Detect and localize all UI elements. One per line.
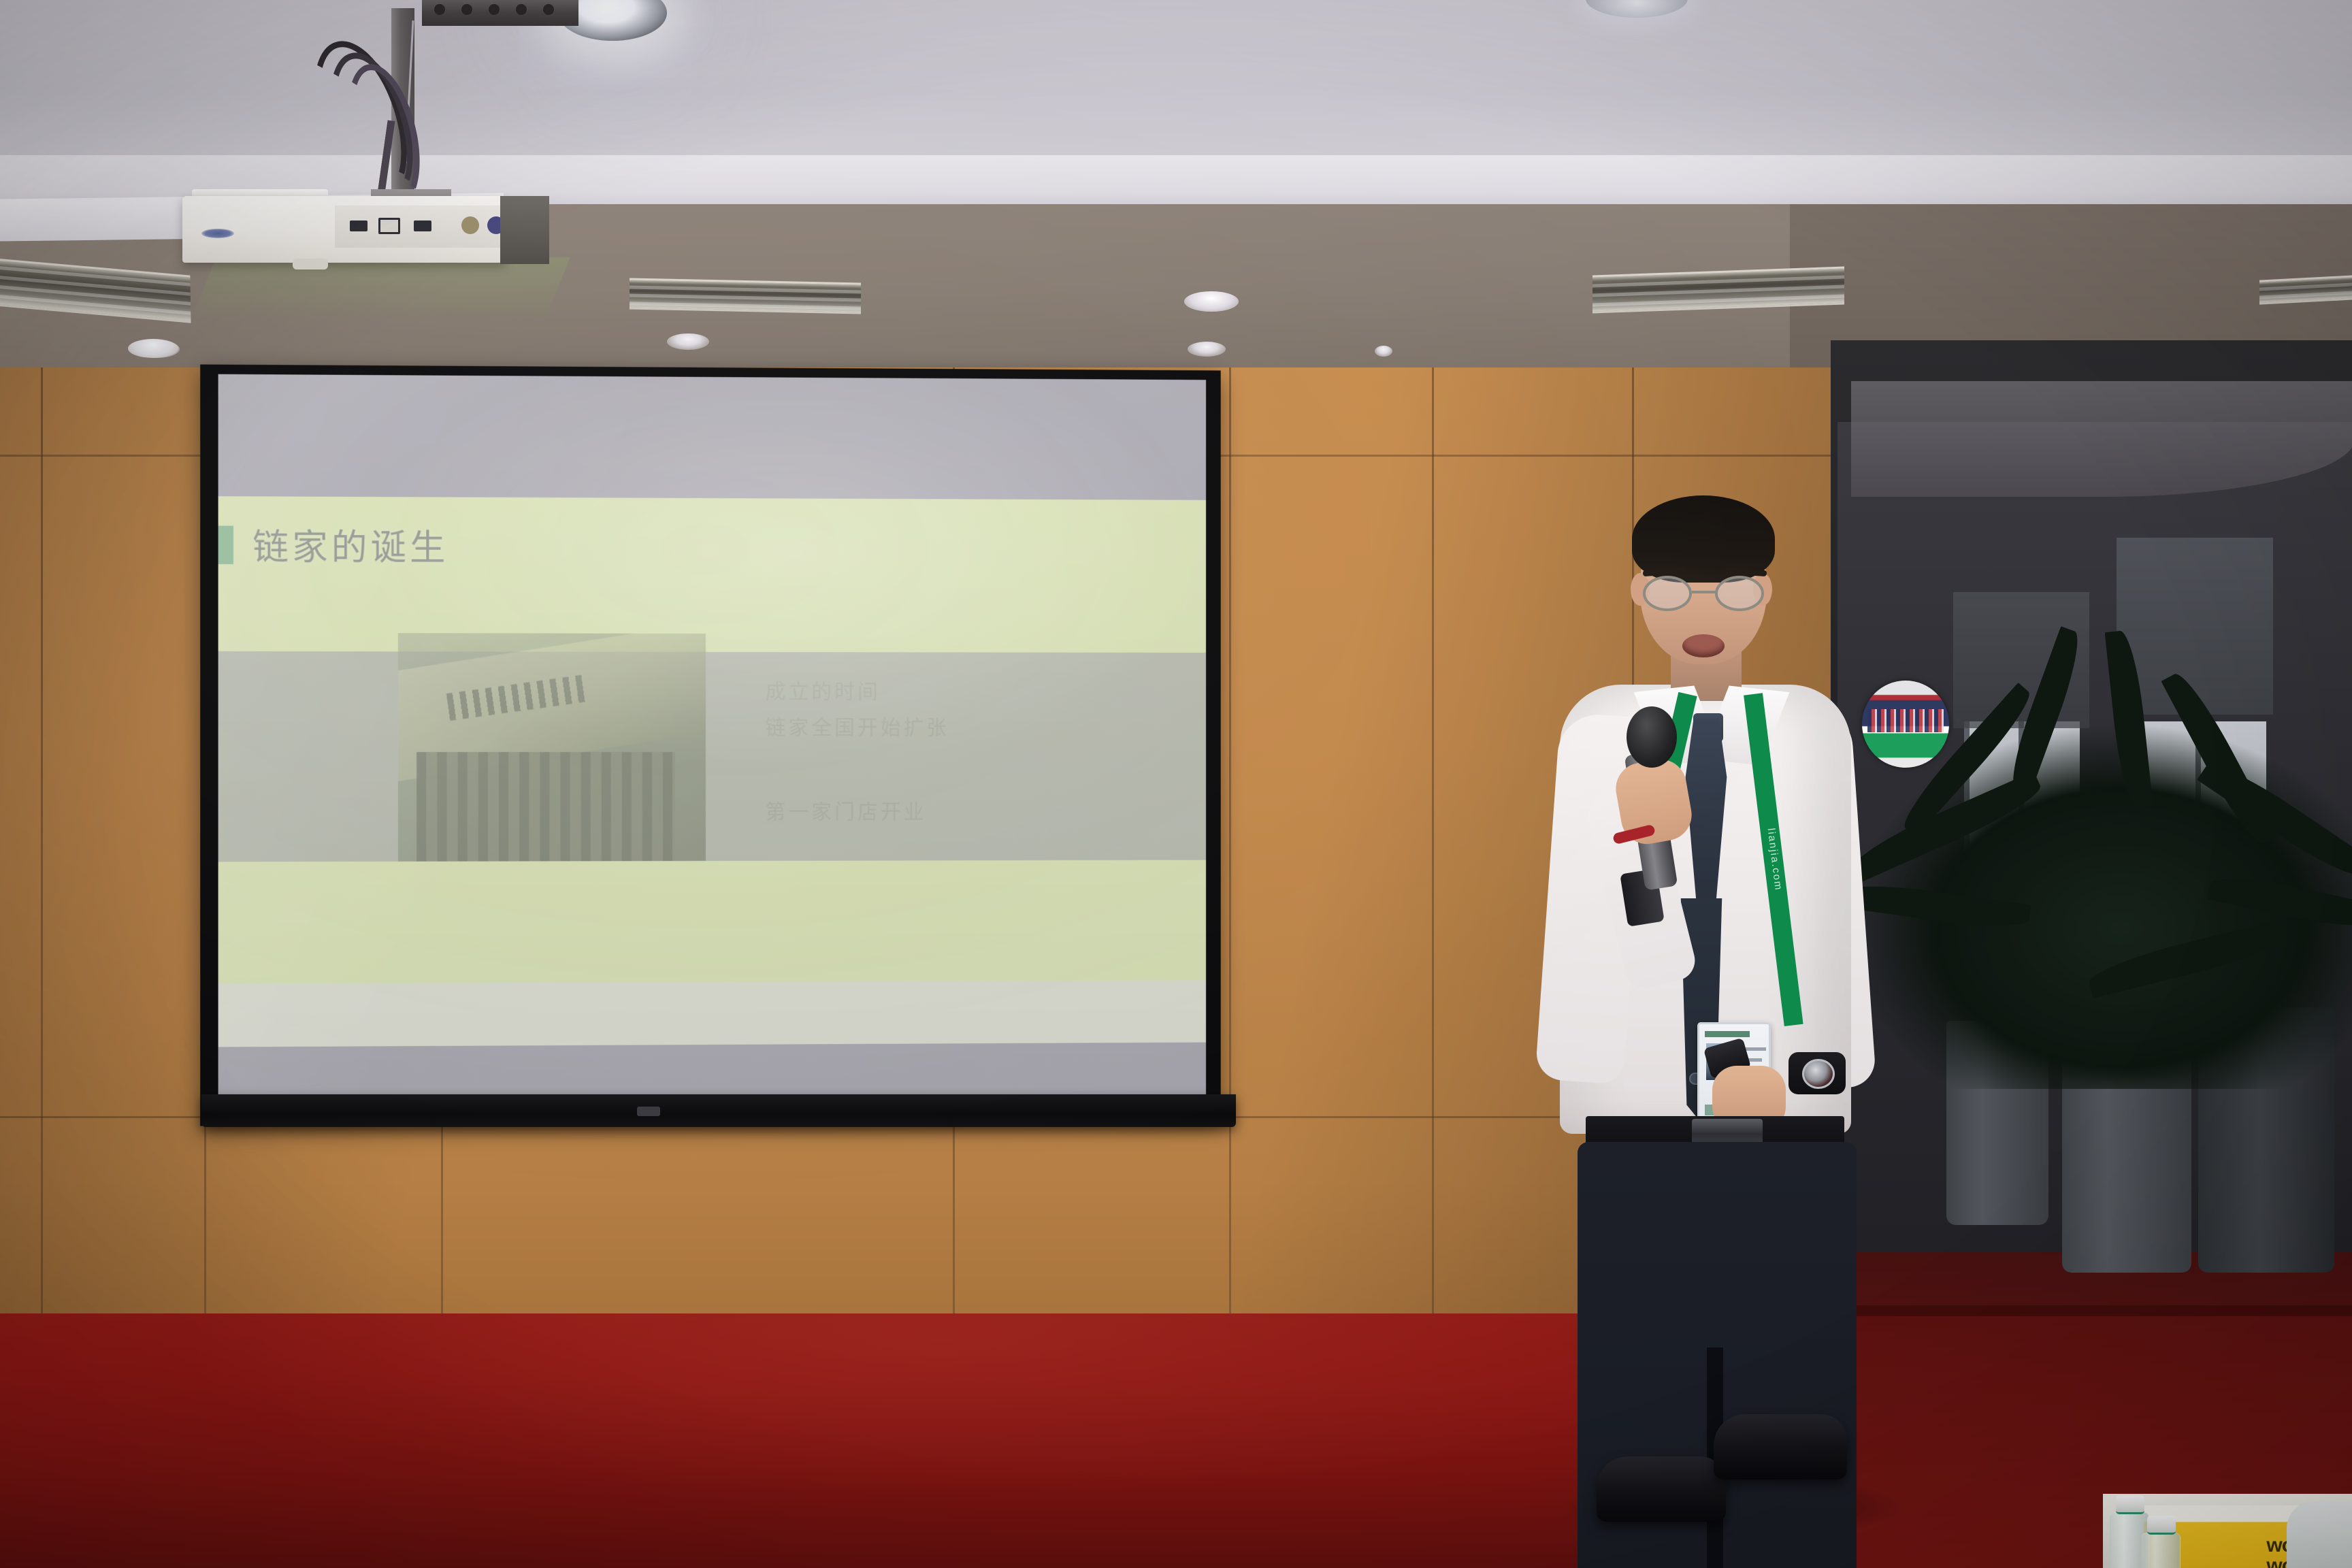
slide-band-top — [218, 374, 1206, 500]
projection-screen: 链家的诞生 成立的时间 链家全国开始扩张 第一家门店开业 — [200, 364, 1221, 1126]
dress-shoe — [1714, 1414, 1847, 1480]
slide-body-line-2: 链家全国开始扩张 — [766, 711, 950, 741]
water-bottle — [2141, 1533, 2180, 1568]
slide-body-line-1: 成立的时间 — [766, 674, 881, 704]
screen-pull-knob — [637, 1107, 660, 1116]
dress-shoe — [1597, 1456, 1726, 1522]
projector-brand-logo-icon — [201, 229, 234, 238]
downlight-icon — [1184, 291, 1239, 312]
corridor-ceiling — [1851, 381, 2352, 497]
downlight-icon — [1188, 342, 1226, 357]
air-vent-icon — [630, 278, 861, 314]
speaker-mouth — [1682, 634, 1725, 657]
carpet-light-glow — [0, 1313, 2352, 1568]
potted-plants-foliage — [1837, 667, 2352, 1089]
slide-title: 链家的诞生 — [252, 519, 448, 570]
slide-surface: 链家的诞生 成立的时间 链家全国开始扩张 第一家门店开业 — [218, 374, 1206, 1113]
air-vent-icon — [2259, 275, 2352, 304]
speaker-figure: lianjia.com — [1531, 490, 1885, 1552]
bottle-cap — [2147, 1516, 2176, 1535]
downlight-icon — [1375, 346, 1392, 357]
eyeglasses-icon — [1639, 576, 1769, 611]
conference-photo-scene: 链家的诞生 成立的时间 链家全国开始扩张 第一家门店开业 — [0, 0, 2352, 1568]
projector-ceiling-rail — [422, 0, 578, 26]
slide-body-line-3: 第一家门店开业 — [766, 795, 927, 825]
badge-header — [1705, 1031, 1750, 1037]
projection-screen-bottom-bar — [201, 1094, 1236, 1127]
projector-side-panel — [500, 196, 549, 264]
wristwatch-icon — [1788, 1052, 1846, 1094]
smoke-detector-icon — [128, 339, 178, 358]
bottle-cap — [2116, 1495, 2144, 1514]
slide-photo-storefront — [398, 633, 706, 862]
projector-port-panel — [335, 206, 512, 248]
slide-title-accent — [218, 525, 233, 564]
projector-lens-icon — [293, 259, 328, 269]
slide-band-middle — [218, 651, 1206, 862]
projector-light-cone — [192, 257, 570, 317]
microphone-icon — [1627, 706, 1677, 768]
white-table-object — [2287, 1501, 2352, 1568]
downlight-icon — [667, 333, 709, 350]
